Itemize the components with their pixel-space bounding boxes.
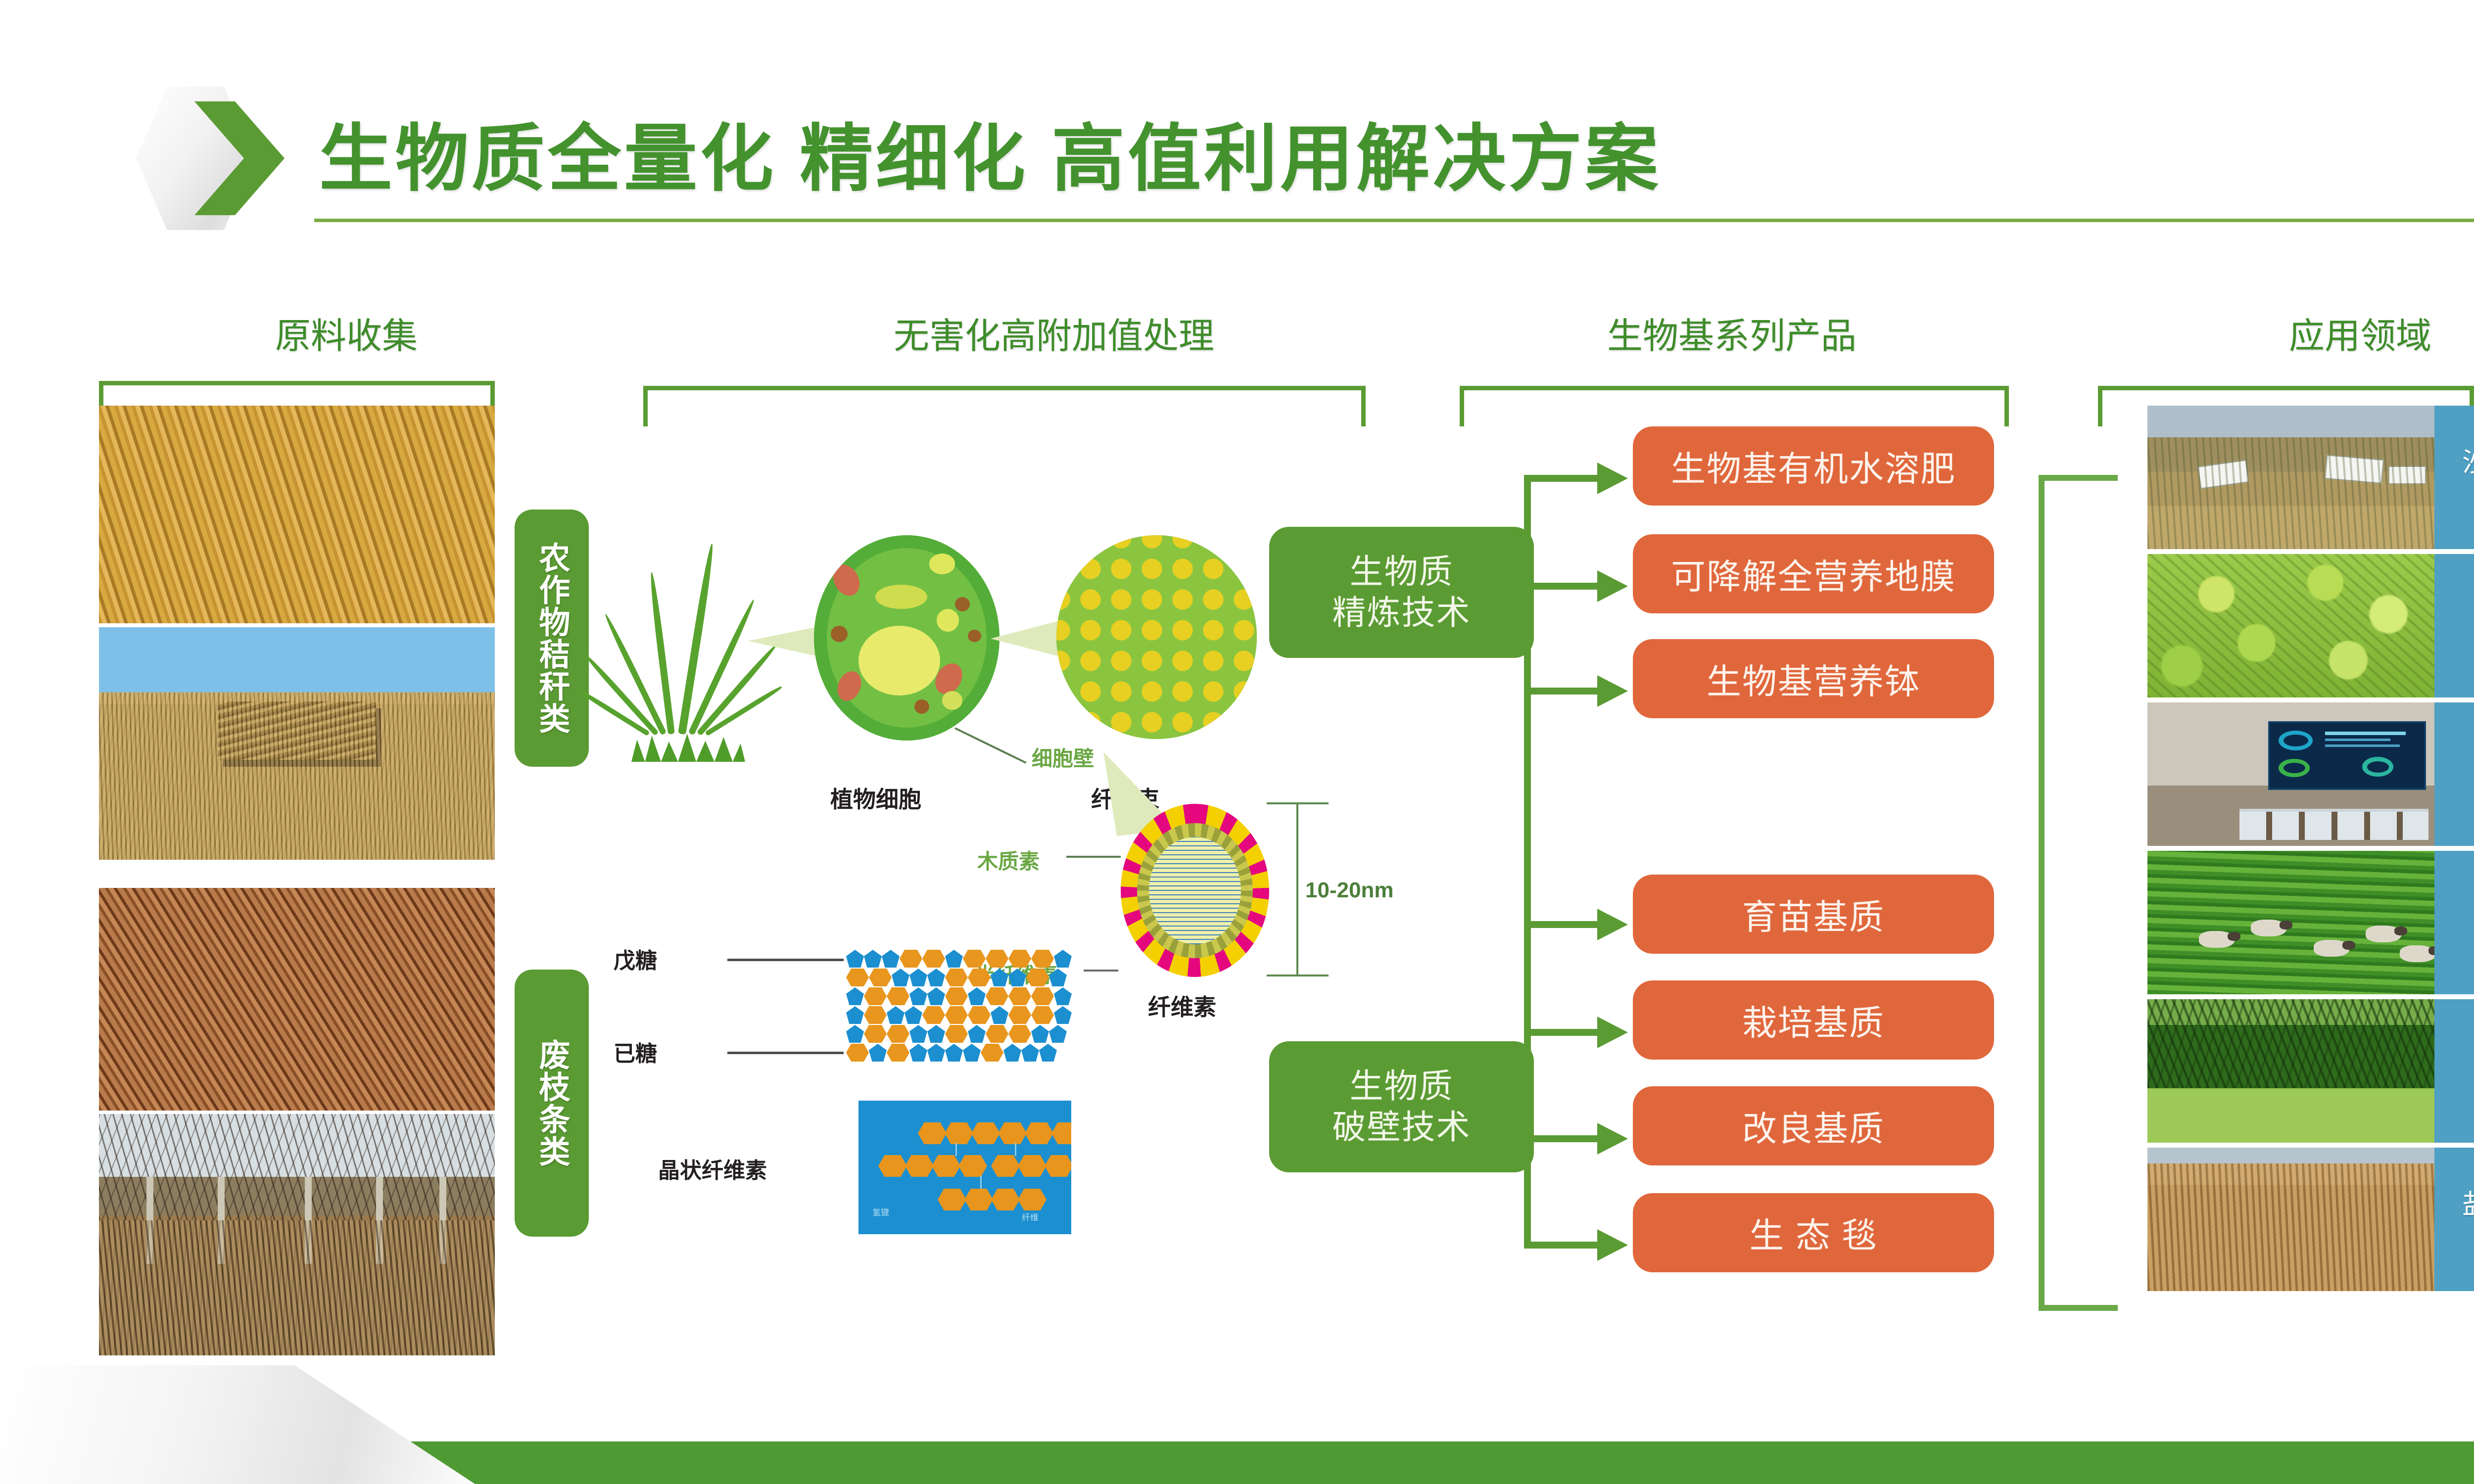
application-tag-fertility[interactable]: 肥力 提升 <box>2434 554 2474 697</box>
arrow-head-1 <box>1597 463 1628 494</box>
application-tag-saline-land[interactable]: 盐碱地 改良 <box>2434 1148 2474 1291</box>
applications-bracket <box>2039 475 2118 1311</box>
arrow-head-6 <box>1597 1123 1628 1155</box>
product-pill-cultivation-substrate[interactable]: 栽培基质 <box>1633 980 1994 1060</box>
product-pill-improvement-substrate[interactable]: 改良基质 <box>1633 1086 1994 1165</box>
application-photo-saline <box>2147 1148 2434 1291</box>
photo-corn-stover <box>99 406 495 623</box>
raw-material-photo-stack <box>99 406 495 1355</box>
arrow-branch-7 <box>1524 1242 1598 1249</box>
section-bracket-products <box>1460 386 2009 426</box>
zoom-cone-2 <box>991 619 1065 658</box>
section-bracket-processing <box>643 386 1366 426</box>
arrow-branch-3 <box>1524 688 1598 695</box>
lignin-leader-line <box>1066 856 1121 858</box>
pentose-leader-line <box>727 959 844 961</box>
sugar-chain-diagram: 戊糖 已糖 <box>727 950 1272 1073</box>
arrow-head-4 <box>1597 909 1628 940</box>
arrow-branch-4 <box>1524 921 1598 928</box>
page-header: 生物质全量化 精细化 高值利用解决方案 <box>0 0 2474 257</box>
photo-brown-branches <box>99 888 495 1111</box>
application-tag-livestock[interactable]: 畜牧 养殖 <box>2434 851 2474 994</box>
application-tag-desertification[interactable]: 沙漠化 治理 <box>2434 406 2474 549</box>
dimension-tick-bottom <box>1267 974 1329 976</box>
tech-pill-refining-line1: 生物质 <box>1349 552 1453 593</box>
crystalline-cellulose-panel: 氢键 纤维 <box>858 1101 1071 1234</box>
product-pill-degradable-mulch-film[interactable]: 可降解全营养地膜 <box>1633 534 1994 613</box>
product-pill-ecological-blanket[interactable]: 生 态 毯 <box>1633 1193 1994 1272</box>
arrow-branch-1 <box>1524 475 1598 482</box>
label-plant-cell: 植物细胞 <box>830 782 921 814</box>
label-pentose: 戊糖 <box>614 943 657 974</box>
title-underline-rule <box>314 219 2474 222</box>
cell-wall-leader-line <box>954 727 1027 764</box>
arrow-trunk-group2-lower <box>1524 1138 1531 1249</box>
application-photo-park <box>2147 999 2434 1143</box>
section-label-raw-collection: 原料收集 <box>148 307 544 359</box>
photo-orchard-pruning <box>99 1114 495 1355</box>
section-label-applications: 应用领域 <box>2147 307 2474 359</box>
grass-plant-icon <box>609 524 762 762</box>
label-hexose: 已糖 <box>614 1036 657 1067</box>
footer-corner-wedge <box>0 1365 475 1484</box>
app-tag-line1-0: 沙漠化 <box>2462 448 2474 477</box>
application-tag-agri-data[interactable]: 农业 数据 <box>2434 702 2474 846</box>
tech-pill-breaking-line1: 生物质 <box>1349 1066 1453 1107</box>
arrow-head-3 <box>1597 675 1628 707</box>
plant-cell-diagram <box>814 535 999 741</box>
tech-pill-refining-line2: 精炼技术 <box>1332 593 1471 634</box>
application-photo-desert <box>2147 406 2434 549</box>
product-pill-seedling-substrate[interactable]: 育苗基质 <box>1633 875 1994 954</box>
application-row-livestock[interactable]: 畜牧 养殖 <box>2147 851 2474 994</box>
arrow-branch-6 <box>1524 1135 1598 1142</box>
application-photo-sheep <box>2147 851 2434 994</box>
tech-pill-breaking-line2: 破壁技术 <box>1332 1107 1471 1148</box>
arrow-branch-2 <box>1524 583 1598 590</box>
label-crystalline-cellulose: 晶状纤维素 <box>658 1153 767 1184</box>
application-row-saline-land[interactable]: 盐碱地 改良 <box>2147 1148 2474 1291</box>
application-row-desertification[interactable]: 沙漠化 治理 <box>2147 406 2474 549</box>
page-title: 生物质全量化 精细化 高值利用解决方案 <box>319 99 1661 205</box>
application-photo-data-hall <box>2147 702 2434 846</box>
section-label-processing: 无害化高附加值处理 <box>609 307 1499 359</box>
label-cell-wall: 细胞壁 <box>1032 742 1094 772</box>
tech-pill-cell-wall-breaking[interactable]: 生物质 破壁技术 <box>1269 1041 1534 1172</box>
arrow-head-2 <box>1597 570 1628 602</box>
category-pill-waste-branches[interactable]: 废枝条类 <box>515 970 589 1237</box>
application-row-fertility[interactable]: 肥力 提升 <box>2147 554 2474 697</box>
photo-hay-bale-field <box>99 627 495 860</box>
section-label-products: 生物基系列产品 <box>1435 307 2029 359</box>
application-tag-landscaping[interactable]: 园林 绿化 <box>2434 999 2474 1143</box>
application-photo-cabbage <box>2147 554 2434 697</box>
application-row-agri-data[interactable]: 农业 数据 <box>2147 702 2474 846</box>
arrow-head-7 <box>1597 1229 1628 1261</box>
arrow-head-5 <box>1597 1017 1628 1048</box>
product-pill-nutrient-pot[interactable]: 生物基营养钵 <box>1633 639 1994 718</box>
label-fiber-dimension: 10-20nm <box>1305 878 1394 903</box>
app-tag-line1-5: 盐碱地 <box>2462 1190 2474 1219</box>
application-row-landscaping[interactable]: 园林 绿化 <box>2147 999 2474 1143</box>
arrow-trunk-group1 <box>1524 475 1531 1138</box>
label-lignin: 木质素 <box>977 845 1040 875</box>
hexagon-logo-icon <box>136 87 285 230</box>
arrow-branch-5 <box>1524 1029 1598 1036</box>
fiber-bundle-diagram <box>1056 535 1257 739</box>
hexose-leader-line <box>727 1052 844 1054</box>
dimension-line-vertical <box>1296 802 1298 976</box>
application-areas-list: 沙漠化 治理 肥力 提升 <box>2147 406 2474 1360</box>
product-pill-water-soluble-fertilizer[interactable]: 生物基有机水溶肥 <box>1633 426 1994 506</box>
category-pill-crop-straw[interactable]: 农作物秸秆类 <box>515 510 589 767</box>
tech-pill-refining[interactable]: 生物质 精炼技术 <box>1269 527 1534 658</box>
